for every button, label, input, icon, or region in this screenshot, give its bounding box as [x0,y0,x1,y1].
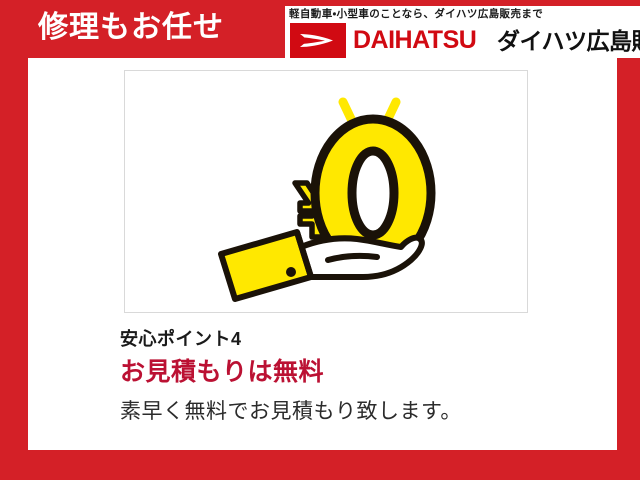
daihatsu-d-emblem-icon [290,23,346,58]
yellow-sleeve-icon [221,232,311,299]
brand-japanese-name: ダイハツ広島販売 [497,27,640,55]
page-title: 修理もお任せ [38,8,224,48]
header-bar: 修理もお任せ 軽自動車・小型車のことなら、ダイハツ広島販売まで DAIHATSU… [0,0,640,58]
brand-tagline: 軽自動車・小型車のことなら、ダイハツ広島販売まで [289,7,543,22]
open-hand-icon [301,238,422,277]
brand-band: 軽自動車・小型車のことなら、ダイハツ広島販売まで DAIHATSU ダイハツ広島… [285,6,640,58]
yen-zero-hand-illustration [125,71,527,312]
caption-headline: お見積もりは無料 [120,354,600,390]
illustration-frame [124,70,528,313]
caption-block: 安心ポイント4 お見積もりは無料 素早く無料でお見積もり致します。 [120,326,600,428]
content-panel: 安心ポイント4 お見積もりは無料 素早く無料でお見積もり致します。 [28,58,617,450]
brand-latin-name: DAIHATSU [353,26,476,55]
slide-root: 修理もお任せ 軽自動車・小型車のことなら、ダイハツ広島販売まで DAIHATSU… [0,0,640,480]
caption-body: 素早く無料でお見積もり致します。 [120,396,600,428]
point-label: 安心ポイント4 [120,326,600,352]
brand-logo: DAIHATSU ダイハツ広島販売 [285,23,640,58]
